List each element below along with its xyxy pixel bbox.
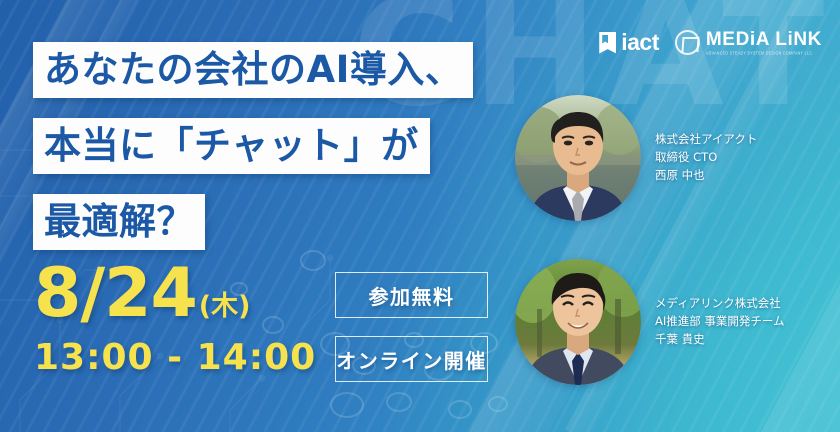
speaker-portrait-2 bbox=[515, 259, 641, 385]
speaker-2-info: メディアリンク株式会社 AI推進部 事業開発チーム 千葉 貴史 bbox=[655, 295, 785, 348]
badge-group: 参加無料 オンライン開催 bbox=[335, 272, 488, 382]
headline: あなたの会社のAI導入、 本当に「チャット」が 最適解？ bbox=[33, 42, 473, 270]
media-link-logo: MEDiA LiNK ADVANCED STEADY SYSTEM DESIGN… bbox=[675, 30, 822, 55]
speaker-1-company: 株式会社アイアクト bbox=[655, 131, 757, 149]
event-date-block: 8/24 (木) 13:00 - 14:00 bbox=[34, 262, 316, 378]
event-date: 8/24 (木) bbox=[34, 262, 316, 327]
speaker-2: メディアリンク株式会社 AI推進部 事業開発チーム 千葉 貴史 bbox=[515, 259, 785, 385]
speaker-1-info: 株式会社アイアクト 取締役 CTO 西原 中也 bbox=[655, 131, 757, 184]
speaker-1-avatar bbox=[515, 95, 641, 221]
event-date-value: 8/24 bbox=[34, 262, 197, 327]
speaker-1: 株式会社アイアクト 取締役 CTO 西原 中也 bbox=[515, 95, 757, 221]
circle-arrow-icon bbox=[675, 30, 700, 55]
headline-line-1: あなたの会社のAI導入、 bbox=[33, 42, 473, 98]
badge-free-participation: 参加無料 bbox=[335, 272, 488, 318]
headline-line-3: 最適解？ bbox=[33, 194, 205, 250]
badge-online-event: オンライン開催 bbox=[335, 336, 488, 382]
media-link-wordmark: MEDiA LiNK bbox=[706, 30, 822, 49]
iact-logo: iact bbox=[599, 31, 659, 54]
speaker-2-company: メディアリンク株式会社 bbox=[655, 295, 785, 313]
speaker-2-avatar bbox=[515, 259, 641, 385]
speaker-portrait-1 bbox=[515, 95, 641, 221]
logo-group: iact MEDiA LiNK ADVANCED STEADY SYSTEM D… bbox=[599, 30, 822, 55]
flag-bookmark-icon bbox=[599, 32, 616, 54]
event-time: 13:00 - 14:00 bbox=[34, 337, 316, 378]
speaker-1-name: 西原 中也 bbox=[655, 167, 757, 185]
webinar-banner: CHAT bbox=[0, 0, 840, 432]
iact-wordmark: iact bbox=[621, 31, 659, 54]
event-day-of-week: (木) bbox=[199, 294, 251, 327]
speaker-2-title: AI推進部 事業開発チーム bbox=[655, 313, 785, 331]
headline-line-2: 本当に「チャット」が bbox=[33, 118, 430, 174]
speaker-1-title: 取締役 CTO bbox=[655, 149, 757, 167]
speaker-2-name: 千葉 貴史 bbox=[655, 331, 785, 349]
media-link-tagline: ADVANCED STEADY SYSTEM DESIGN COMPANY LL… bbox=[706, 51, 822, 56]
